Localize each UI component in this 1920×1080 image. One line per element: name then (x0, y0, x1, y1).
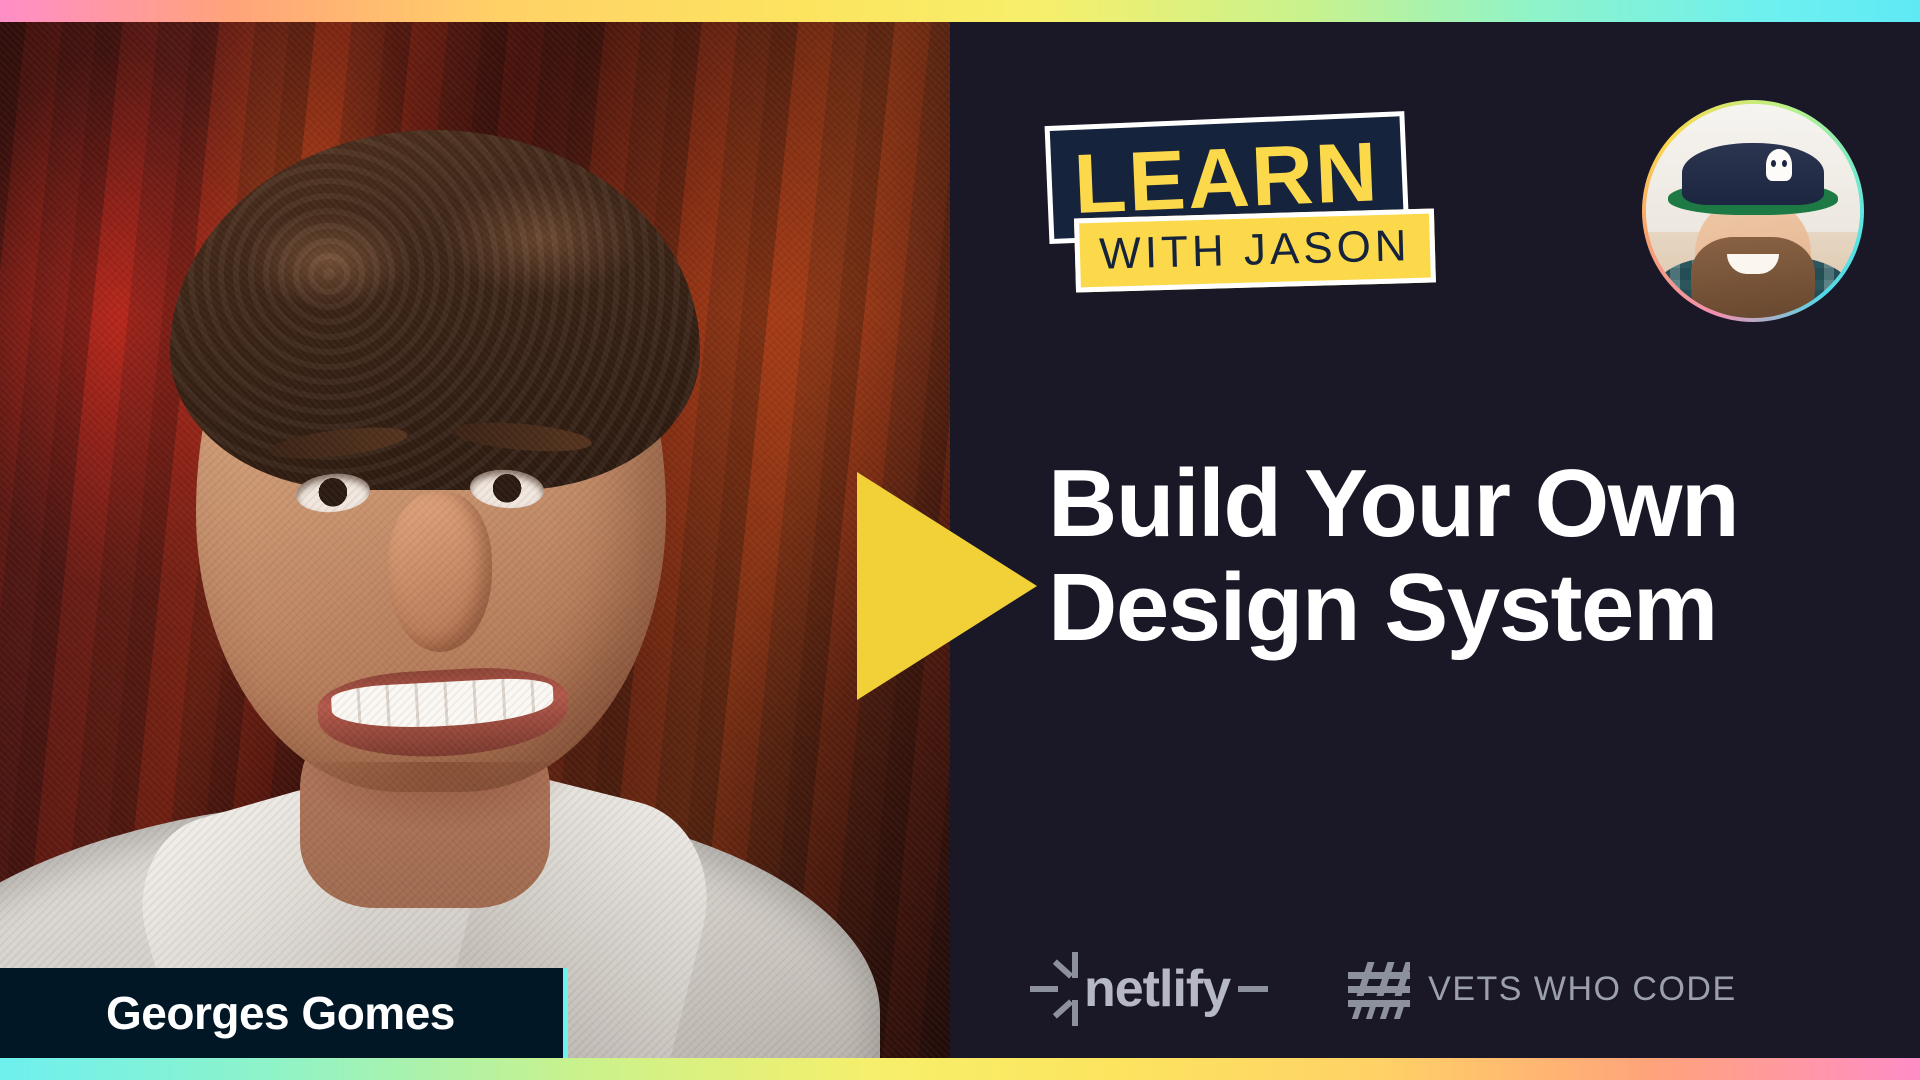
guest-name: Georges Gomes (106, 986, 455, 1040)
portrait-hair (170, 130, 700, 490)
learn-with-jason-logo[interactable]: LEARN WITH JASON (1045, 110, 1438, 298)
sponsor-row: netlify VETS WHO CODE (1030, 952, 1737, 1026)
vwc-fringe-3 (1380, 1006, 1390, 1019)
vwc-fringe-4 (1394, 1006, 1404, 1019)
guest-portrait (0, 22, 950, 1058)
episode-title-line-2: Design System (1048, 556, 1858, 660)
episode-title-line-1: Build Your Own (1048, 452, 1858, 556)
ghost-icon (1766, 149, 1792, 181)
sponsor-vets-who-code[interactable]: VETS WHO CODE (1348, 958, 1737, 1020)
page-title: Build Your Own Design System (1048, 452, 1858, 659)
vets-who-code-icon (1348, 958, 1410, 1020)
netlify-wordmark: netlify (1084, 959, 1230, 1019)
vets-who-code-wordmark: VETS WHO CODE (1428, 970, 1737, 1009)
top-gradient-bar (0, 0, 1920, 22)
netlify-spark-diag-top (1053, 959, 1073, 978)
netlify-spark-right (1238, 986, 1268, 992)
vwc-fringe-1 (1352, 1006, 1362, 1019)
netlify-icon (1030, 952, 1090, 1026)
portrait-teeth (331, 676, 555, 732)
portrait-chin-shadow (300, 762, 580, 832)
host-avatar[interactable] (1642, 100, 1864, 322)
vwc-fringe-2 (1366, 1006, 1376, 1019)
sponsor-netlify[interactable]: netlify (1030, 952, 1268, 1026)
play-icon[interactable] (857, 472, 1037, 700)
guest-photo (0, 22, 950, 1058)
guest-name-banner: Georges Gomes (0, 968, 568, 1058)
avatar-beard (1691, 237, 1815, 318)
logo-bottom-plate: WITH JASON (1074, 208, 1436, 292)
logo-with-jason-text: WITH JASON (1099, 224, 1411, 277)
netlify-spark-left (1030, 986, 1058, 992)
avatar-cap (1682, 143, 1824, 205)
bottom-gradient-bar (0, 1058, 1920, 1080)
host-avatar-image (1646, 104, 1860, 318)
episode-title-card: LEARN WITH JASON Build Your Own Design S… (0, 0, 1920, 1080)
netlify-spark-diag-bottom (1053, 999, 1073, 1018)
portrait-nose (388, 492, 492, 652)
